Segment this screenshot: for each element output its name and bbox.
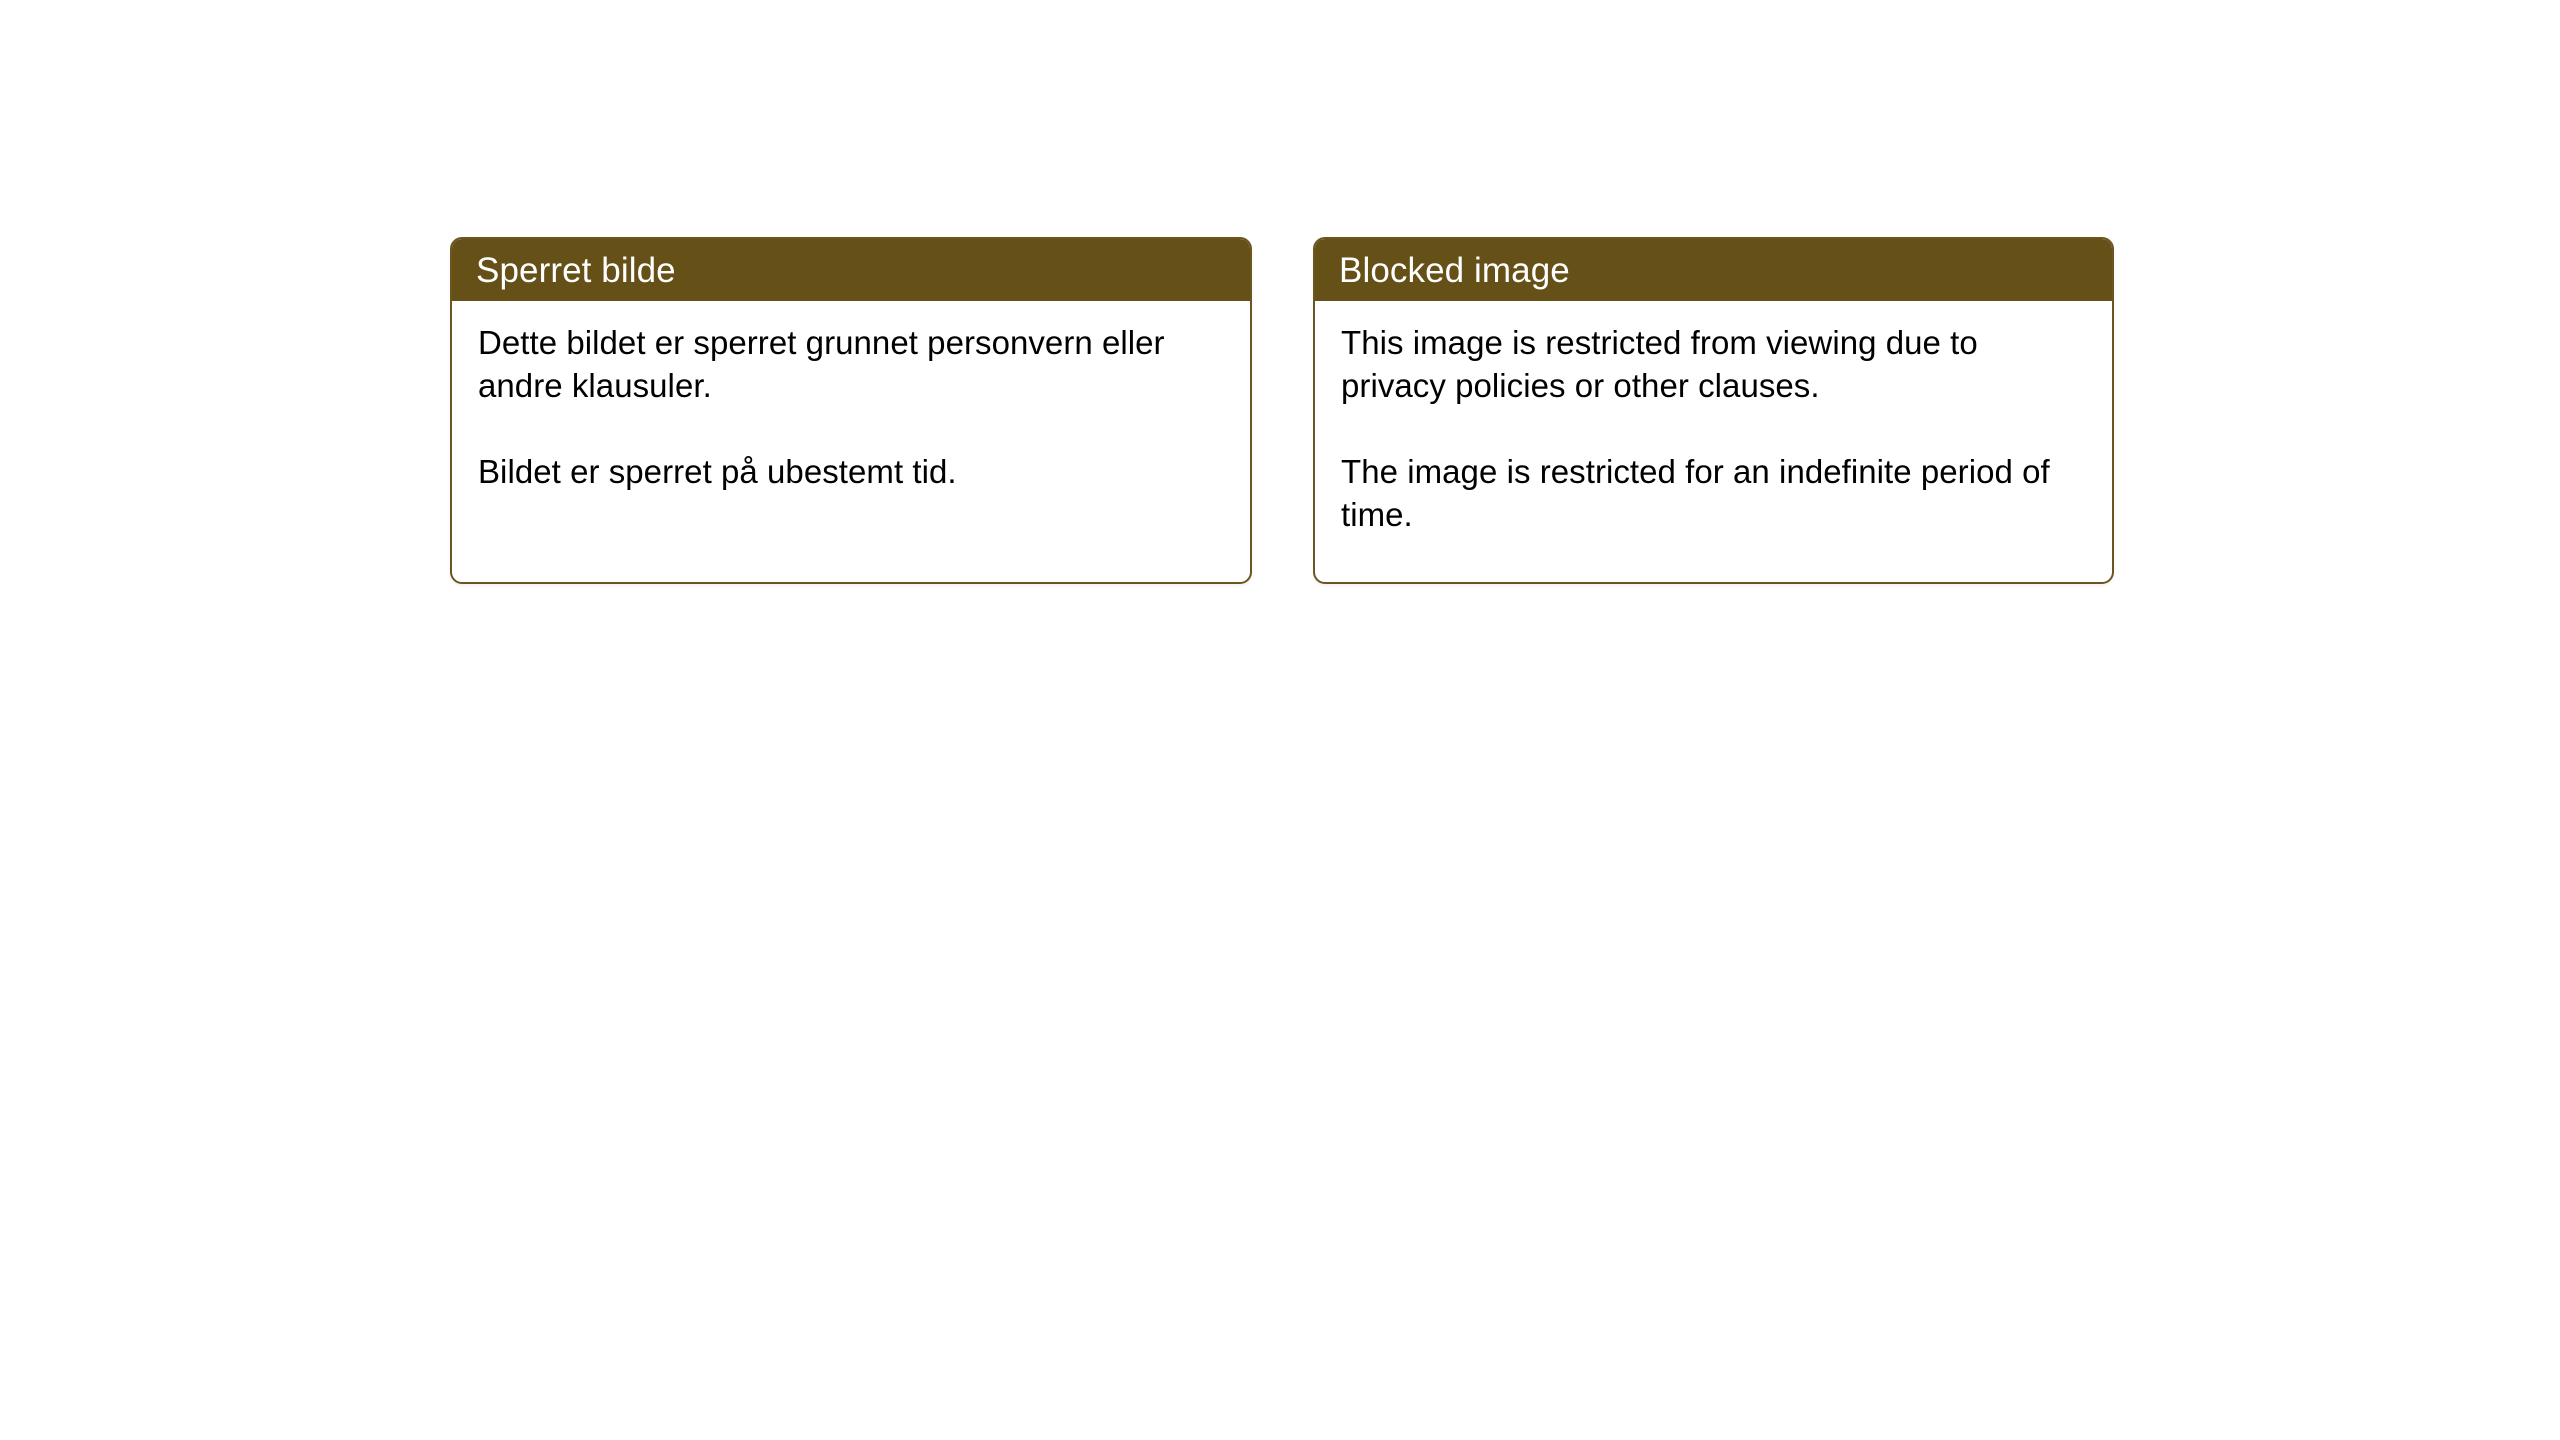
blocked-image-notice-norwegian: Sperret bilde Dette bildet er sperret gr… [450,237,1252,584]
notice-header-norwegian: Sperret bilde [452,239,1250,301]
notice-body-english: This image is restricted from viewing du… [1315,301,2112,536]
notice-paragraph-reason-english: This image is restricted from viewing du… [1341,321,2086,407]
notice-paragraph-duration-english: The image is restricted for an indefinit… [1341,450,2086,536]
notice-body-norwegian: Dette bildet er sperret grunnet personve… [452,301,1250,493]
notice-paragraph-duration-norwegian: Bildet er sperret på ubestemt tid. [478,450,1224,493]
notice-title-english: Blocked image [1339,253,1570,288]
notice-header-english: Blocked image [1315,239,2112,301]
notice-paragraph-reason-norwegian: Dette bildet er sperret grunnet personve… [478,321,1224,407]
page-canvas: Sperret bilde Dette bildet er sperret gr… [0,0,2560,1440]
notice-title-norwegian: Sperret bilde [476,253,676,288]
blocked-image-notice-english: Blocked image This image is restricted f… [1313,237,2114,584]
